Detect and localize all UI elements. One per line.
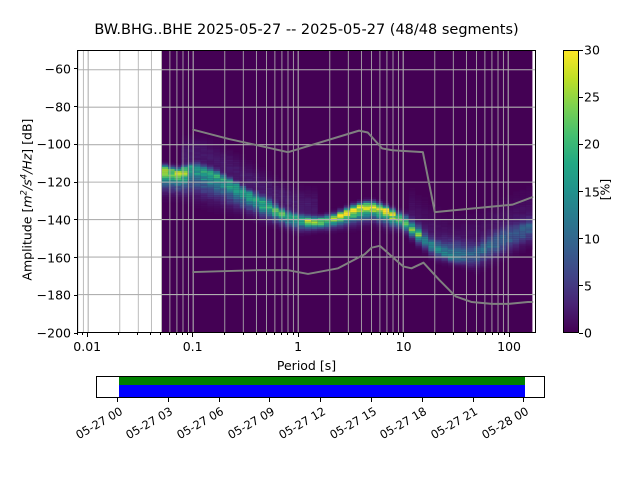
y-tick-mark bbox=[74, 257, 78, 258]
y-tick-label: −160 bbox=[19, 250, 71, 265]
y-tick-mark bbox=[74, 106, 78, 107]
x-tick-mark bbox=[176, 333, 177, 335]
x-tick-mark bbox=[485, 333, 486, 335]
x-tick-mark bbox=[403, 333, 404, 337]
x-tick-mark bbox=[453, 333, 454, 335]
x-tick-mark bbox=[169, 333, 170, 335]
x-tick-mark bbox=[498, 333, 499, 335]
colorbar-tick-mark bbox=[579, 238, 583, 239]
y-tick-label: −120 bbox=[19, 175, 71, 190]
x-tick-mark bbox=[393, 333, 394, 335]
x-tick-mark bbox=[509, 333, 510, 337]
timeline-tick-mark bbox=[219, 398, 220, 402]
colorbar-tick-mark bbox=[579, 333, 583, 334]
colorbar-tick-label: 30 bbox=[584, 43, 608, 58]
colorbar-tick-mark bbox=[579, 191, 583, 192]
timeline-tick-mark bbox=[168, 398, 169, 402]
timeline-tick-mark bbox=[269, 398, 270, 402]
y-tick-mark bbox=[74, 68, 78, 69]
x-tick-mark bbox=[137, 333, 138, 335]
x-tick-label: 100 bbox=[497, 339, 521, 354]
x-tick-mark bbox=[504, 333, 505, 335]
x-tick-mark bbox=[266, 333, 267, 335]
y-tick-label: −180 bbox=[19, 288, 71, 303]
x-tick-mark bbox=[293, 333, 294, 335]
x-tick-mark bbox=[371, 333, 372, 335]
y-tick-label: −100 bbox=[19, 137, 71, 152]
ylabel-unit-m: m bbox=[20, 195, 35, 207]
page-title: BW.BHG..BHE 2025-05-27 -- 2025-05-27 (48… bbox=[77, 22, 536, 38]
x-tick-mark bbox=[281, 333, 282, 335]
x-tick-mark bbox=[87, 333, 88, 337]
y-tick-mark bbox=[74, 144, 78, 145]
x-tick-mark bbox=[298, 333, 299, 337]
x-tick-mark bbox=[361, 333, 362, 335]
x-tick-mark bbox=[274, 333, 275, 335]
x-tick-mark bbox=[492, 333, 493, 335]
y-tick-mark bbox=[74, 182, 78, 183]
x-tick-mark bbox=[387, 333, 388, 335]
colorbar-tick-label: 10 bbox=[584, 231, 608, 246]
x-tick-mark bbox=[380, 333, 381, 335]
x-tick-mark bbox=[192, 333, 193, 337]
y-tick-mark bbox=[74, 295, 78, 296]
timeline-tick-mark bbox=[371, 398, 372, 402]
x-tick-mark bbox=[118, 333, 119, 335]
timeline-tick-mark bbox=[117, 398, 118, 402]
y-tick-label: −140 bbox=[19, 212, 71, 227]
x-tick-mark bbox=[329, 333, 330, 335]
x-tick-label: 0.1 bbox=[183, 339, 203, 354]
x-tick-mark bbox=[224, 333, 225, 335]
timeline-used-band bbox=[119, 385, 525, 397]
ylabel-unit-hz: /Hz bbox=[20, 154, 35, 174]
y-axis-label: Amplitude [m2/s4/Hz] [dB] bbox=[19, 95, 34, 305]
y-tick-label: −200 bbox=[19, 326, 71, 341]
timeline-tick-mark bbox=[523, 398, 524, 402]
x-tick-mark bbox=[77, 333, 78, 335]
coverage-timeline[interactable] bbox=[96, 376, 545, 398]
colorbar-tick-mark bbox=[579, 144, 583, 145]
x-tick-mark bbox=[435, 333, 436, 335]
x-tick-mark bbox=[477, 333, 478, 335]
colorbar[interactable] bbox=[563, 50, 579, 333]
colorbar-tick-mark bbox=[579, 97, 583, 98]
x-tick-mark bbox=[182, 333, 183, 335]
timeline-data-band bbox=[119, 377, 525, 385]
x-axis-label: Period [s] bbox=[77, 358, 536, 373]
x-tick-mark bbox=[150, 333, 151, 335]
x-tick-mark bbox=[82, 333, 83, 335]
colorbar-tick-label: 20 bbox=[584, 137, 608, 152]
x-tick-mark bbox=[256, 333, 257, 335]
colorbar-tick-label: 0 bbox=[584, 326, 608, 341]
colorbar-tick-label: 5 bbox=[584, 278, 608, 293]
noise-model-curves bbox=[78, 51, 535, 332]
ppsd-plot-area[interactable] bbox=[77, 50, 536, 333]
x-tick-mark bbox=[467, 333, 468, 335]
colorbar-gradient bbox=[564, 51, 578, 332]
colorbar-tick-mark bbox=[579, 50, 583, 51]
x-tick-mark bbox=[398, 333, 399, 335]
x-tick-mark bbox=[287, 333, 288, 335]
ylabel-sup-2: 2 bbox=[19, 190, 29, 195]
x-tick-label: 1 bbox=[294, 339, 302, 354]
colorbar-tick-label: 15 bbox=[584, 184, 608, 199]
x-tick-label: 0.01 bbox=[73, 339, 101, 354]
colorbar-tick-label: 25 bbox=[584, 90, 608, 105]
ppsd-figure: BW.BHG..BHE 2025-05-27 -- 2025-05-27 (48… bbox=[0, 0, 640, 480]
x-tick-mark bbox=[243, 333, 244, 335]
colorbar-tick-mark bbox=[579, 285, 583, 286]
timeline-tick-mark bbox=[473, 398, 474, 402]
y-tick-mark bbox=[74, 219, 78, 220]
x-tick-mark bbox=[348, 333, 349, 335]
x-tick-mark bbox=[187, 333, 188, 335]
x-tick-mark bbox=[160, 333, 161, 335]
timeline-tick-mark bbox=[320, 398, 321, 402]
x-tick-label: 10 bbox=[396, 339, 412, 354]
y-tick-label: −80 bbox=[19, 99, 71, 114]
timeline-tick-mark bbox=[422, 398, 423, 402]
y-tick-label: −60 bbox=[19, 61, 71, 76]
